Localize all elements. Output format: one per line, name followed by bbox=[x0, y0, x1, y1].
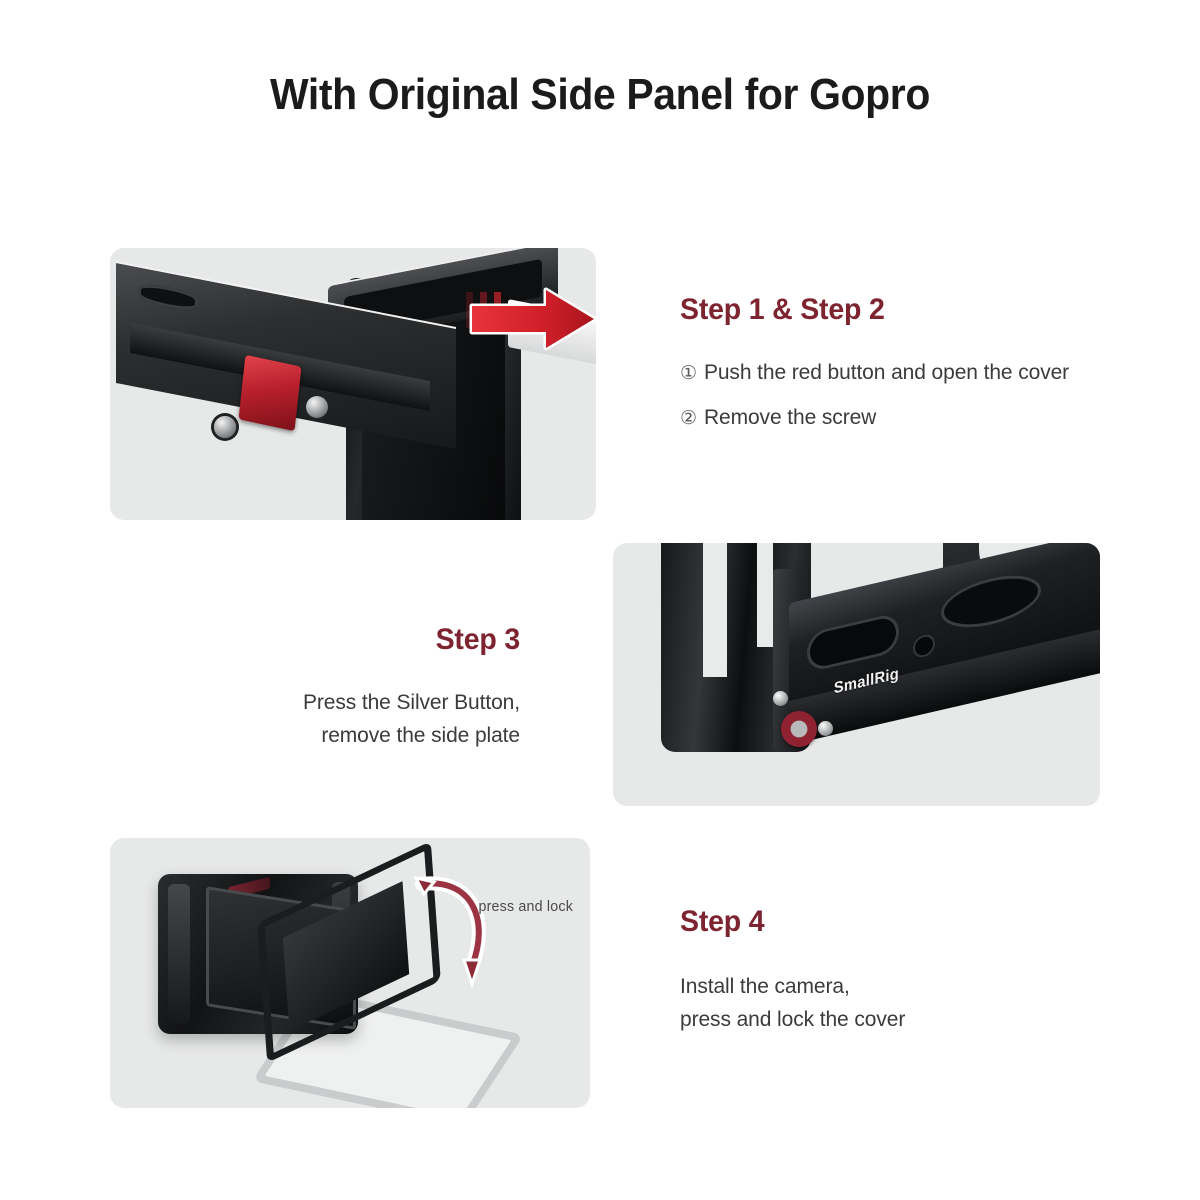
step-1-2-line-2: ②Remove the screw bbox=[680, 402, 1069, 435]
red-release-button-shape bbox=[239, 355, 302, 431]
step-marker-2: ② bbox=[680, 404, 697, 433]
step-1-2-line-2-text: Remove the screw bbox=[704, 406, 876, 429]
step-4-heading: Step 4 bbox=[680, 905, 894, 939]
screw-shape bbox=[773, 691, 788, 706]
step-4-photo-panel: press and lock bbox=[110, 838, 590, 1108]
step-3-line-1: Press the Silver Button, bbox=[220, 687, 520, 720]
step-3-line-2: remove the side plate bbox=[220, 720, 520, 753]
silver-button-with-red-ring-shape bbox=[781, 711, 817, 747]
step-4-line-1: Install the camera, bbox=[680, 971, 905, 1004]
right-arrow-icon bbox=[468, 286, 596, 361]
step-3-text-block: Step 3 Press the Silver Button, remove t… bbox=[220, 623, 520, 752]
step-4-text-block: Step 4 Install the camera, press and loc… bbox=[680, 905, 905, 1036]
screw-shape bbox=[818, 721, 833, 736]
step-1-2-heading: Step 1 & Step 2 bbox=[680, 293, 1050, 327]
step-3-photo-panel: SmallRig bbox=[613, 543, 1100, 806]
step-marker-1: ① bbox=[680, 359, 697, 388]
step-4-line-2: press and lock the cover bbox=[680, 1004, 905, 1037]
page-title: With Original Side Panel for Gopro bbox=[42, 70, 1158, 120]
curved-down-arrow-icon bbox=[410, 868, 500, 1003]
screw-shape bbox=[214, 416, 236, 438]
step-1-2-photo-panel bbox=[110, 248, 596, 520]
step-3-heading: Step 3 bbox=[235, 623, 520, 657]
press-and-lock-label: press and lock bbox=[478, 898, 573, 915]
step-1-2-line-1: ①Push the red button and open the cover bbox=[680, 357, 1069, 390]
step-1-2-line-1-text: Push the red button and open the cover bbox=[704, 361, 1069, 384]
step-1-2-text-block: Step 1 & Step 2 ①Push the red button and… bbox=[680, 293, 1069, 434]
screw-shape bbox=[306, 396, 328, 418]
